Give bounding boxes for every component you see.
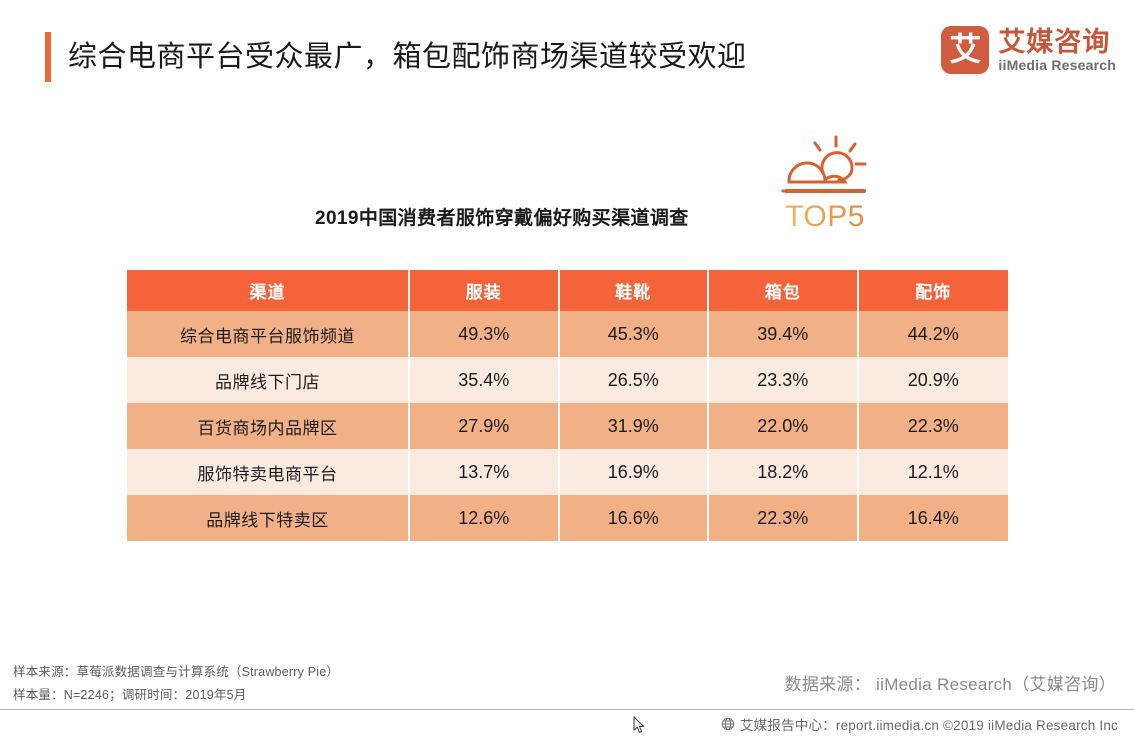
cell-value: 23.3%	[709, 357, 859, 403]
sun-behind-cloud-icon	[772, 132, 878, 198]
brand-mark-icon: 艾	[941, 26, 989, 74]
footer-bar: 艾媒报告中心：report.iimedia.cn ©2019 iiMedia R…	[0, 710, 1134, 737]
brand-text: 艾媒咨询 iiMedia Research	[998, 27, 1116, 74]
top5-badge: TOP5	[772, 132, 878, 234]
cell-value: 31.9%	[560, 403, 710, 449]
brand-logo: 艾 艾媒咨询 iiMedia Research	[941, 26, 1116, 74]
cell-value: 12.6%	[410, 495, 560, 541]
cell-value: 13.7%	[410, 449, 560, 495]
cell-value: 16.9%	[560, 449, 710, 495]
cell-value: 22.0%	[709, 403, 859, 449]
cell-value: 16.4%	[859, 495, 1009, 541]
cell-value: 22.3%	[859, 403, 1009, 449]
cell-value: 18.2%	[709, 449, 859, 495]
column-header-bags: 箱包	[709, 270, 859, 311]
cell-value: 16.6%	[560, 495, 710, 541]
data-source-note: 数据来源： iiMedia Research（艾媒咨询）	[785, 670, 1116, 695]
cell-value: 45.3%	[560, 311, 710, 357]
sample-size-note: 样本量：N=2246；调研时间：2019年5月	[13, 684, 339, 707]
infographic-page: 综合电商平台受众最广，箱包配饰商场渠道较受欢迎 艾 艾媒咨询 iiMedia R…	[0, 0, 1134, 737]
cell-channel: 百货商场内品牌区	[127, 403, 410, 449]
survey-data-table: 渠道 服装 鞋靴 箱包 配饰 综合电商平台服饰频道 49.3% 45.3% 39…	[127, 270, 1008, 541]
sample-source-note: 样本来源：草莓派数据调查与计算系统（Strawberry Pie）	[13, 661, 339, 684]
cell-value: 44.2%	[859, 311, 1009, 357]
chart-heading: 2019中国消费者服饰穿戴偏好购买渠道调查	[315, 203, 689, 230]
top5-badge-label: TOP5	[772, 200, 878, 234]
cell-value: 35.4%	[410, 357, 560, 403]
cell-channel: 服饰特卖电商平台	[127, 449, 410, 495]
globe-icon	[721, 717, 735, 731]
table-row: 品牌线下特卖区 12.6% 16.6% 22.3% 16.4%	[127, 495, 1008, 541]
table-row: 服饰特卖电商平台 13.7% 16.9% 18.2% 12.1%	[127, 449, 1008, 495]
cell-value: 12.1%	[859, 449, 1009, 495]
cell-value: 49.3%	[410, 311, 560, 357]
cell-channel: 品牌线下门店	[127, 357, 410, 403]
column-header-channel: 渠道	[127, 270, 410, 311]
cell-channel: 品牌线下特卖区	[127, 495, 410, 541]
page-header: 综合电商平台受众最广，箱包配饰商场渠道较受欢迎 艾 艾媒咨询 iiMedia R…	[0, 0, 1134, 110]
table-row: 品牌线下门店 35.4% 26.5% 23.3% 20.9%	[127, 357, 1008, 403]
cell-channel: 综合电商平台服饰频道	[127, 311, 410, 357]
cell-value: 26.5%	[560, 357, 710, 403]
table-header-row: 渠道 服装 鞋靴 箱包 配饰	[127, 270, 1008, 311]
mouse-cursor	[633, 716, 646, 737]
title-accent-bar	[45, 32, 51, 82]
page-title: 综合电商平台受众最广，箱包配饰商场渠道较受欢迎	[68, 36, 747, 78]
footer-bar-text: 艾媒报告中心：report.iimedia.cn ©2019 iiMedia R…	[740, 714, 1118, 734]
column-header-apparel: 服装	[410, 270, 560, 311]
brand-name-cn: 艾媒咨询	[998, 27, 1116, 57]
table-row: 百货商场内品牌区 27.9% 31.9% 22.0% 22.3%	[127, 403, 1008, 449]
cell-value: 39.4%	[709, 311, 859, 357]
cell-value: 27.9%	[410, 403, 560, 449]
cell-value: 20.9%	[859, 357, 1009, 403]
cell-value: 22.3%	[709, 495, 859, 541]
brand-name-en: iiMedia Research	[998, 57, 1116, 74]
column-header-accessories: 配饰	[859, 270, 1009, 311]
footnotes: 样本来源：草莓派数据调查与计算系统（Strawberry Pie） 样本量：N=…	[13, 661, 339, 707]
column-header-shoes: 鞋靴	[560, 270, 710, 311]
table-row: 综合电商平台服饰频道 49.3% 45.3% 39.4% 44.2%	[127, 311, 1008, 357]
